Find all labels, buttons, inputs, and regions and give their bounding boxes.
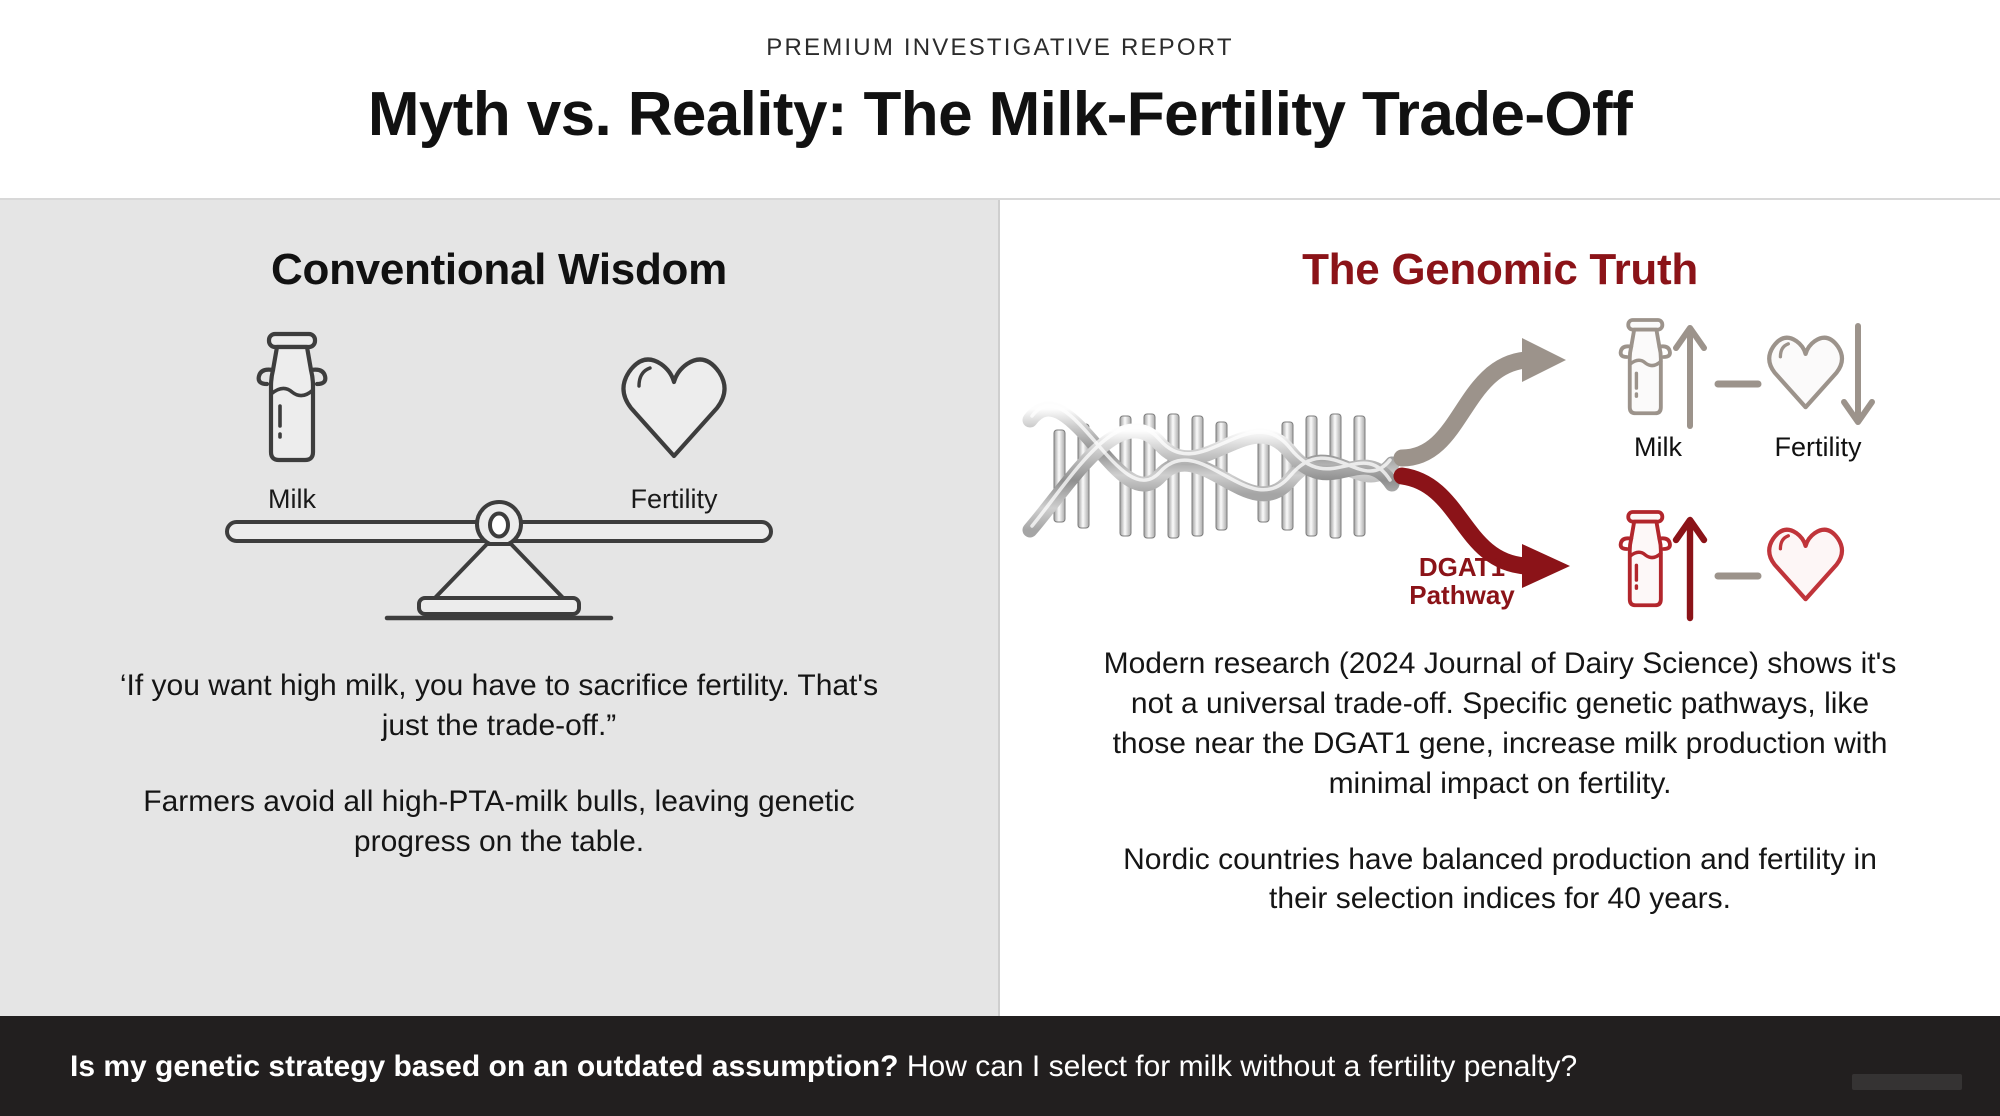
balance-scale-figure: Milk Fertility xyxy=(219,326,779,626)
milk-can-icon xyxy=(259,334,326,460)
panel-genomic-truth: The Genomic Truth xyxy=(1000,200,2000,1016)
footer-bar: Is my genetic strategy based on an outda… xyxy=(0,1016,2000,1116)
fertility-icon-label: Fertility xyxy=(631,484,718,514)
dgat1-milk-up-arrow-icon xyxy=(1676,520,1704,618)
heart-icon xyxy=(623,360,724,457)
scale-fulcrum xyxy=(419,544,579,614)
right-panel-heading: The Genomic Truth xyxy=(1302,248,1698,292)
generic-milk-up-arrow-icon xyxy=(1676,328,1704,426)
generic-fertility-label: Fertility xyxy=(1775,432,1862,462)
right-panel-body: Modern research (2024 Journal of Dairy S… xyxy=(1100,644,1900,919)
watermark-artifact xyxy=(1852,1074,1962,1090)
balance-scale-svg: Milk Fertility xyxy=(219,326,779,626)
dgat1-pathway-label: DGAT1 Pathway xyxy=(1409,552,1515,610)
footer-question-text: Is my genetic strategy based on an outda… xyxy=(70,1050,1577,1083)
dgat1-label-line1: DGAT1 xyxy=(1419,552,1505,582)
left-panel-heading: Conventional Wisdom xyxy=(271,248,727,292)
dgat1-heart-icon xyxy=(1769,530,1842,599)
left-consequence-paragraph: Farmers avoid all high-PTA-milk bulls, l… xyxy=(119,782,879,862)
page-title: Myth vs. Reality: The Milk-Fertility Tra… xyxy=(368,82,1632,147)
dgat1-milk-can-icon xyxy=(1621,512,1670,605)
generic-heart-icon xyxy=(1769,338,1842,407)
panels-container: Conventional Wisdom Milk xyxy=(0,200,2000,1016)
dgat1-outcome-group: Milk Fertility xyxy=(1621,512,1862,628)
generic-pathway-arrow xyxy=(1402,338,1566,458)
dna-helix-icon xyxy=(1030,406,1392,538)
footer-regular-question: How can I select for milk without a fert… xyxy=(907,1050,1577,1083)
dna-pathway-figure: DGAT1 Pathway xyxy=(1010,308,1990,628)
footer-bold-question: Is my genetic strategy based on an outda… xyxy=(70,1050,899,1083)
right-research-paragraph: Modern research (2024 Journal of Dairy S… xyxy=(1100,644,1900,804)
dgat1-milk-label: Milk xyxy=(1634,624,1682,628)
dna-pathway-svg: DGAT1 Pathway xyxy=(1010,308,1990,628)
milk-icon-label: Milk xyxy=(268,484,316,514)
report-eyebrow: PREMIUM INVESTIGATIVE REPORT xyxy=(766,36,1233,60)
left-panel-body: ‘If you want high milk, you have to sacr… xyxy=(119,666,879,862)
dgat1-fertility-label: Fertility xyxy=(1775,624,1862,628)
right-nordic-paragraph: Nordic countries have balanced productio… xyxy=(1100,840,1900,920)
left-quote-paragraph: ‘If you want high milk, you have to sacr… xyxy=(119,666,879,746)
header: PREMIUM INVESTIGATIVE REPORT Myth vs. Re… xyxy=(0,0,2000,200)
generic-milk-can-icon xyxy=(1621,320,1670,413)
generic-outcome-group: Milk Fertility xyxy=(1621,320,1872,462)
panel-conventional-wisdom: Conventional Wisdom Milk xyxy=(0,200,1000,1016)
dgat1-label-line2: Pathway xyxy=(1409,580,1515,610)
infographic-poster: PREMIUM INVESTIGATIVE REPORT Myth vs. Re… xyxy=(0,0,2000,1116)
scale-pivot xyxy=(477,502,521,546)
generic-fertility-down-arrow-icon xyxy=(1844,326,1872,422)
generic-milk-label: Milk xyxy=(1634,432,1682,462)
